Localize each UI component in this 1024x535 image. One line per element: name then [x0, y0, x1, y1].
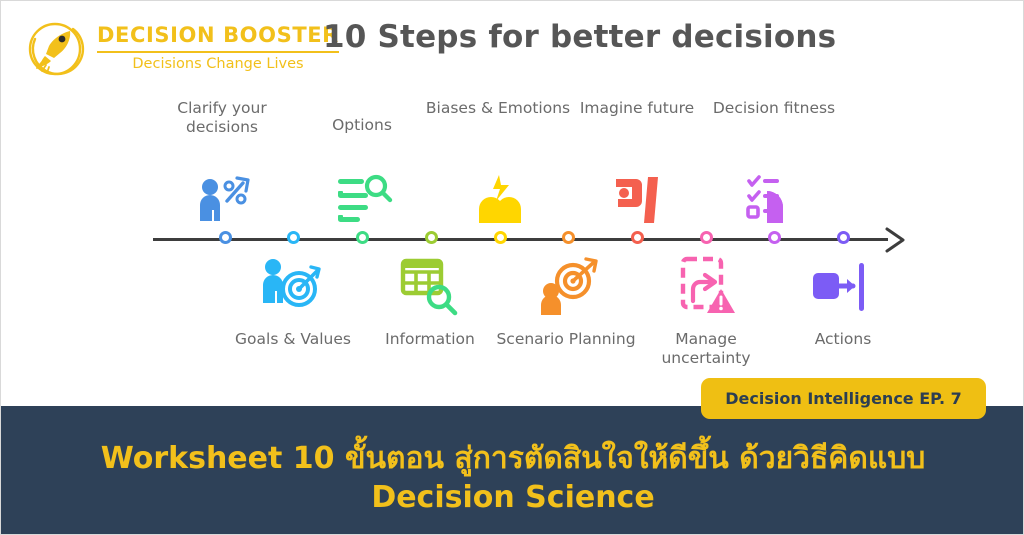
step-label-5: Biases & Emotions — [423, 99, 573, 118]
person-target-icon — [259, 255, 321, 317]
step-label-10: Actions — [768, 330, 918, 349]
step-label-9: Decision fitness — [699, 99, 849, 118]
brand-tagline: Decisions Change Lives — [97, 56, 339, 73]
person-percent-growth-icon — [193, 171, 255, 233]
timeline-node-2[interactable] — [287, 231, 300, 244]
slide-canvas: DECISION BOOSTER Decisions Change Lives … — [0, 0, 1024, 535]
timeline-node-8[interactable] — [700, 231, 713, 244]
brand-name: DECISION BOOSTER — [97, 24, 339, 47]
timeline-node-4[interactable] — [425, 231, 438, 244]
step-label-4: Information — [355, 330, 505, 349]
imagine-future-icon — [608, 171, 670, 233]
table-search-icon — [398, 255, 460, 317]
timeline-node-6[interactable] — [562, 231, 575, 244]
bottom-banner: Worksheet 10 ขั้นตอน สู่การตัดสินใจให้ดี… — [1, 406, 1024, 535]
brand-logo: DECISION BOOSTER Decisions Change Lives — [21, 11, 321, 87]
step-label-7: Imagine future — [562, 99, 712, 118]
path-warning-icon — [675, 255, 737, 317]
list-search-icon — [332, 171, 394, 233]
step-label-1: Clarify your decisions — [147, 99, 297, 138]
arrow-right-icon — [881, 225, 909, 255]
page-title: 10 Steps for better decisions — [323, 19, 836, 55]
step-label-2: Goals & Values — [218, 330, 368, 349]
episode-badge[interactable]: Decision Intelligence EP. 7 — [701, 378, 986, 419]
timeline-node-10[interactable] — [837, 231, 850, 244]
rocket-in-circle-icon — [21, 13, 93, 85]
brand-divider — [97, 51, 339, 53]
two-heads-spark-icon — [469, 171, 531, 233]
step-label-6: Scenario Planning — [491, 330, 641, 349]
arrow-to-line-icon — [809, 255, 871, 317]
step-label-3: Options — [287, 116, 437, 135]
timeline-infographic: Clarify your decisions Goals & Values Op… — [1, 97, 1024, 397]
episode-badge-label: Decision Intelligence EP. 7 — [725, 389, 961, 408]
banner-title-line-1: Worksheet 10 ขั้นตอน สู่การตัดสินใจให้ดี… — [101, 439, 926, 478]
step-label-8: Manage uncertainty — [631, 330, 781, 369]
person-dartboard-icon — [537, 255, 599, 317]
head-checklist-icon — [745, 171, 807, 233]
banner-title-line-2: Decision Science — [371, 478, 654, 517]
